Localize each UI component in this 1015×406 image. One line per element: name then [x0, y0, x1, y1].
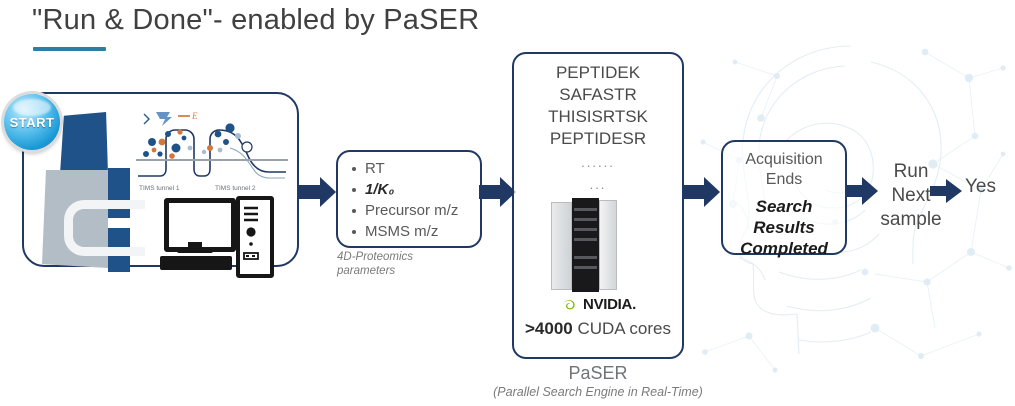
parameters-list: RT 1/K₀ Precursor m/z MSMS m/z [338, 152, 480, 242]
drive-bay [574, 228, 597, 231]
peptide-4: PEPTIDESR [512, 128, 684, 150]
flow-arrow-1 [299, 176, 337, 208]
tims-tunnel-1-label: TIMS tunnel 1 [139, 185, 179, 192]
drive-bay [574, 218, 597, 221]
cuda-cores-value: >4000 [525, 319, 573, 338]
nvidia-branding: NVIDIA. [512, 296, 684, 313]
peptide-ellipsis-1: ...... [512, 152, 684, 174]
drive-bay [574, 256, 597, 259]
flow-arrow-5 [930, 178, 962, 204]
acquisition-line-1: Acquisition [721, 150, 847, 170]
acquisition-line-2: Ends [721, 170, 847, 190]
start-badge[interactable]: START [4, 94, 60, 150]
tims-tunnel-2-label: TIMS tunnel 2 [215, 185, 255, 192]
search-results-line-3: Completed [721, 238, 847, 259]
tower-details [240, 200, 262, 266]
peptide-ellipsis-2: ... [512, 174, 684, 196]
parameters-caption: 4D-Proteomics parameters [337, 250, 447, 278]
parameter-item-precursor: Precursor m/z [348, 200, 480, 221]
drive-bay [574, 238, 597, 241]
keyboard-icon [160, 256, 232, 270]
page-title: "Run & Done"- enabled by PaSER [32, 4, 479, 37]
acquisition-status-text: Acquisition Ends [721, 150, 847, 190]
peptide-1: PEPTIDEK [512, 62, 684, 84]
cuda-cores-text: >4000 CUDA cores [512, 318, 684, 339]
workstation-left-panel [551, 202, 572, 290]
nvidia-wordmark: NVIDIA. [583, 296, 636, 313]
paser-name-label: PaSER [512, 363, 684, 384]
title-accent-rule [33, 47, 106, 51]
parameters-box: RT 1/K₀ Precursor m/z MSMS m/z [336, 150, 482, 248]
drive-bay [574, 266, 597, 269]
tims-tunnel-diagram: E [134, 104, 290, 196]
search-results-line-2: Results [721, 217, 847, 238]
parameter-item-1k0: 1/K₀ [348, 179, 480, 200]
search-results-completed-text: Search Results Completed [721, 196, 847, 259]
peptide-3: THISISRTSK [512, 106, 684, 128]
start-badge-label: START [10, 115, 55, 130]
nvidia-logo-icon [560, 297, 578, 312]
peptide-sequence-list: PEPTIDEK SAFASTR THISISRTSK PEPTIDESR [512, 62, 684, 150]
run-next-line-3: sample [874, 208, 948, 232]
flow-arrow-3 [683, 176, 721, 208]
drive-bay [574, 208, 597, 211]
svg-text:E: E [191, 111, 198, 121]
cuda-cores-label: CUDA cores [577, 319, 671, 338]
yes-label: Yes [965, 176, 996, 198]
instrument-top-block [60, 112, 108, 174]
workstation-right-panel [599, 200, 617, 290]
paser-caption: (Parallel Search Engine in Real-Time) [483, 385, 713, 399]
parameter-item-rt: RT [348, 158, 480, 179]
parameter-item-msms: MSMS m/z [348, 221, 480, 242]
monitor-base [177, 249, 213, 253]
workstation-drive-bays [572, 198, 599, 292]
gpu-workstation-image [551, 198, 617, 292]
peptide-2: SAFASTR [512, 84, 684, 106]
instrument-inlet-cutout [64, 200, 145, 256]
desktop-tower-icon [236, 196, 274, 278]
search-results-line-1: Search [721, 196, 847, 217]
